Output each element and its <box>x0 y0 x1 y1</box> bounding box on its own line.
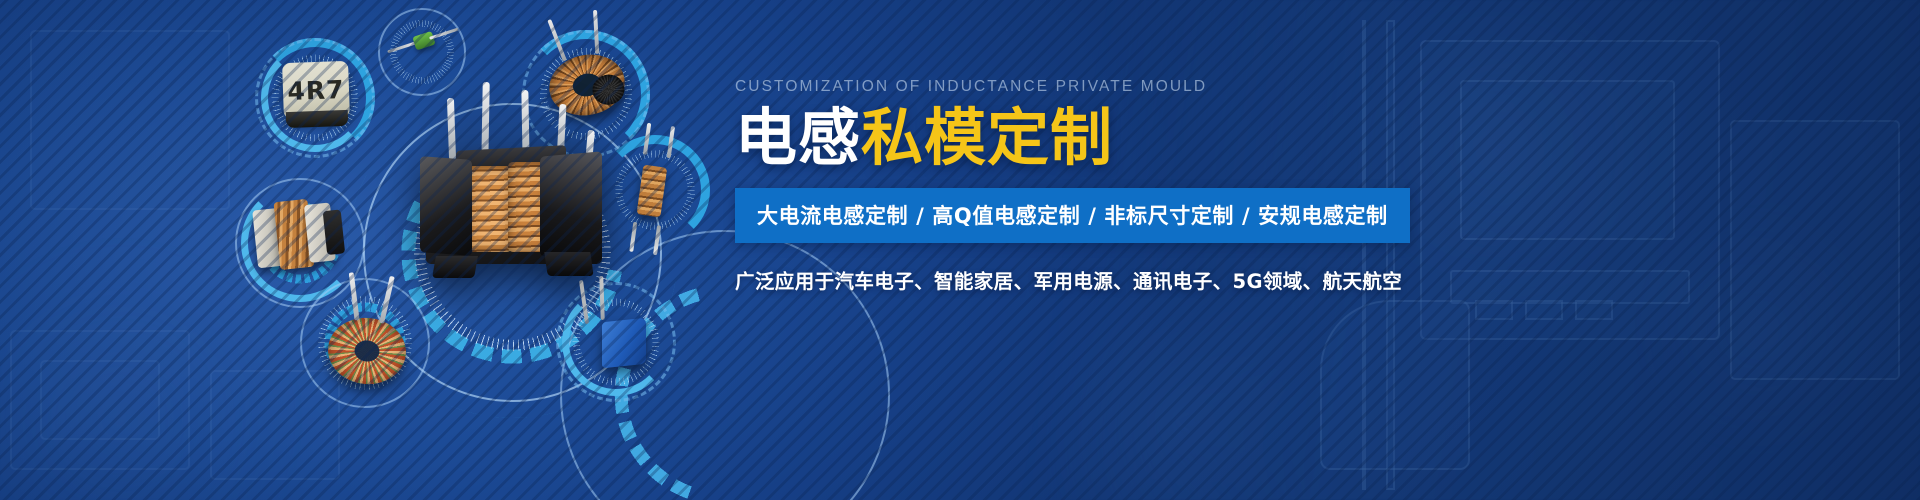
banner-headline: 电感私模定制 <box>735 105 1375 172</box>
hero-banner: 4R7 CUSTOMIZATION O <box>0 0 1920 500</box>
banner-text-block: CUSTOMIZATION OF INDUCTANCE PRIVATE MOUL… <box>735 78 1375 294</box>
background-machine-panel <box>1300 0 1920 500</box>
rod-core <box>636 165 667 218</box>
banner-eyebrow-english: CUSTOMIZATION OF INDUCTANCE PRIVATE MOUL… <box>735 78 1375 96</box>
banner-tagline-text: 大电流电感定制 / 高Q值电感定制 / 非标尺寸定制 / 安规电感定制 <box>757 200 1388 230</box>
chip-marking-label: 4R7 <box>282 61 350 119</box>
product-smd-power-inductor: 4R7 <box>282 61 350 119</box>
capacitor-body <box>602 318 646 369</box>
product-common-mode-choke <box>418 110 618 290</box>
headline-part-gold: 私模定制 <box>861 101 1113 174</box>
product-clip-inductor <box>252 196 345 275</box>
headline-part-white: 电感 <box>735 101 861 174</box>
banner-tagline-bar: 大电流电感定制 / 高Q值电感定制 / 非标尺寸定制 / 安规电感定制 <box>735 188 1410 243</box>
banner-application-text: 广泛应用于汽车电子、智能家居、军用电源、通讯电子、5G领域、航天航空 <box>735 265 1375 294</box>
product-blue-capacitor <box>578 310 650 374</box>
